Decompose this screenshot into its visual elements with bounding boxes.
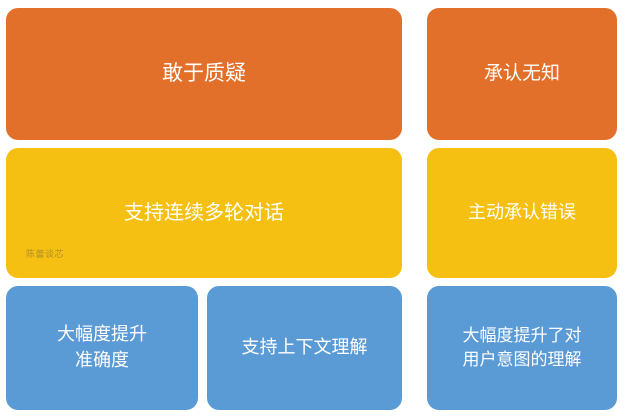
card-admit-ignorance: 承认无知: [427, 8, 617, 140]
card-label: 支持连续多轮对话: [16, 199, 392, 227]
card-label: 支持上下文理解: [217, 335, 392, 361]
card-intent-understanding: 大幅度提升了对 用户意图的理解: [427, 286, 617, 410]
card-label: 大幅度提升了对 用户意图的理解: [437, 324, 607, 372]
card-dare-to-question: 敢于质疑: [6, 8, 402, 140]
card-label: 承认无知: [437, 61, 607, 88]
card-multi-turn-dialogue: 支持连续多轮对话: [6, 148, 402, 278]
card-label: 主动承认错误: [437, 200, 607, 226]
card-label: 敢于质疑: [16, 59, 392, 89]
card-admit-mistakes: 主动承认错误: [427, 148, 617, 278]
diagram-canvas: 敢于质疑承认无知支持连续多轮对话主动承认错误大幅度提升 准确度支持上下文理解大幅…: [0, 0, 626, 418]
watermark-label: 陈蕾谈芯: [26, 247, 64, 260]
card-label: 大幅度提升 准确度: [16, 322, 188, 373]
card-accuracy-improvement: 大幅度提升 准确度: [6, 286, 198, 410]
card-context-understanding: 支持上下文理解: [207, 286, 402, 410]
